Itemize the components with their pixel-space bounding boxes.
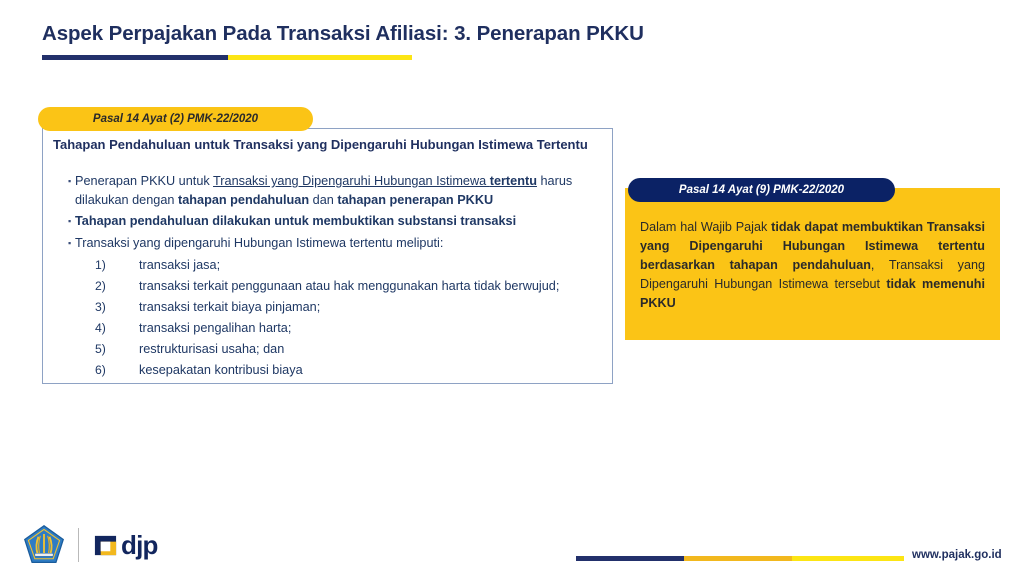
bullet-text: Tahapan pendahuluan dilakukan untuk memb… [75, 212, 605, 231]
right-highlight-panel: Dalam hal Wajib Pajak tidak dapat membuk… [625, 188, 1000, 340]
text-run: Dalam hal Wajib Pajak [640, 220, 771, 234]
bullet-list: ▪Penerapan PKKU untuk Transaksi yang Dip… [53, 172, 605, 382]
numbered-item: 5)restrukturisasi usaha; dan [95, 340, 605, 359]
text-run: Transaksi yang dipengaruhi Hubungan Isti… [75, 236, 443, 250]
numbered-item: 3)transaksi terkait biaya pinjaman; [95, 298, 605, 317]
title-rule-yellow [228, 55, 412, 60]
right-panel-body: Dalam hal Wajib Pajak tidak dapat membuk… [640, 218, 985, 313]
djp-wordmark: djp [93, 532, 158, 558]
footer-logo-group: djp [22, 523, 158, 567]
text-run: tahapan penerapan PKKU [337, 193, 493, 207]
numbered-item-marker: 2) [95, 277, 139, 296]
title-rule-navy [42, 55, 228, 60]
numbered-item-text: transaksi terkait penggunaan atau hak me… [139, 277, 559, 296]
numbered-item-marker: 3) [95, 298, 139, 317]
right-article-badge: Pasal 14 Ayat (9) PMK-22/2020 [628, 178, 895, 202]
numbered-item-text: kesepakatan kontribusi biaya [139, 361, 303, 380]
bullet-text: Penerapan PKKU untuk Transaksi yang Dipe… [75, 172, 605, 209]
numbered-list: 1)transaksi jasa;2)transaksi terkait pen… [53, 256, 605, 380]
numbered-item: 1)transaksi jasa; [95, 256, 605, 275]
numbered-item-marker: 5) [95, 340, 139, 359]
right-article-badge-label: Pasal 14 Ayat (9) PMK-22/2020 [679, 184, 844, 196]
bullet-square-icon: ▪ [53, 172, 75, 209]
numbered-item-marker: 1) [95, 256, 139, 275]
numbered-item-marker: 6) [95, 361, 139, 380]
card-heading: Tahapan Pendahuluan untuk Transaksi yang… [53, 136, 603, 153]
left-article-badge: Pasal 14 Ayat (2) PMK-22/2020 [38, 107, 313, 131]
footer-bar-yellow [792, 556, 904, 561]
bullet-square-icon: ▪ [53, 234, 75, 253]
footer-bar-gold [684, 556, 792, 561]
text-run: Penerapan PKKU untuk [75, 174, 213, 188]
bullet-text: Transaksi yang dipengaruhi Hubungan Isti… [75, 234, 605, 253]
left-article-badge-label: Pasal 14 Ayat (2) PMK-22/2020 [93, 113, 258, 125]
footer-bar-navy [576, 556, 684, 561]
slide-root: Aspek Perpajakan Pada Transaksi Afiliasi… [0, 0, 1024, 576]
numbered-item-text: transaksi jasa; [139, 256, 220, 275]
bullet-item: ▪Penerapan PKKU untuk Transaksi yang Dip… [53, 172, 605, 209]
page-title: Aspek Perpajakan Pada Transaksi Afiliasi… [42, 22, 644, 46]
text-run: dan [309, 193, 337, 207]
djp-wordmark-text: djp [121, 532, 158, 558]
numbered-item-marker: 4) [95, 319, 139, 338]
text-run: tertentu [490, 174, 537, 188]
bullet-square-icon: ▪ [53, 212, 75, 231]
left-content-card: Tahapan Pendahuluan untuk Transaksi yang… [42, 128, 613, 384]
bullet-item: ▪Tahapan pendahuluan dilakukan untuk mem… [53, 212, 605, 231]
footer-url: www.pajak.go.id [912, 549, 1002, 561]
text-run: tahapan pendahuluan [178, 193, 309, 207]
logo-divider [78, 528, 79, 562]
numbered-item: 4)transaksi pengalihan harta; [95, 319, 605, 338]
numbered-item-text: transaksi terkait biaya pinjaman; [139, 298, 320, 317]
djp-emblem-icon [22, 523, 66, 567]
numbered-item-text: restrukturisasi usaha; dan [139, 340, 284, 359]
numbered-item-text: transaksi pengalihan harta; [139, 319, 291, 338]
numbered-item: 2)transaksi terkait penggunaan atau hak … [95, 277, 605, 296]
djp-square-icon [93, 533, 118, 558]
text-run: Tahapan pendahuluan dilakukan untuk memb… [75, 214, 516, 228]
bullet-item: ▪Transaksi yang dipengaruhi Hubungan Ist… [53, 234, 605, 253]
text-run: Transaksi yang Dipengaruhi Hubungan Isti… [213, 174, 490, 188]
numbered-item: 6)kesepakatan kontribusi biaya [95, 361, 605, 380]
